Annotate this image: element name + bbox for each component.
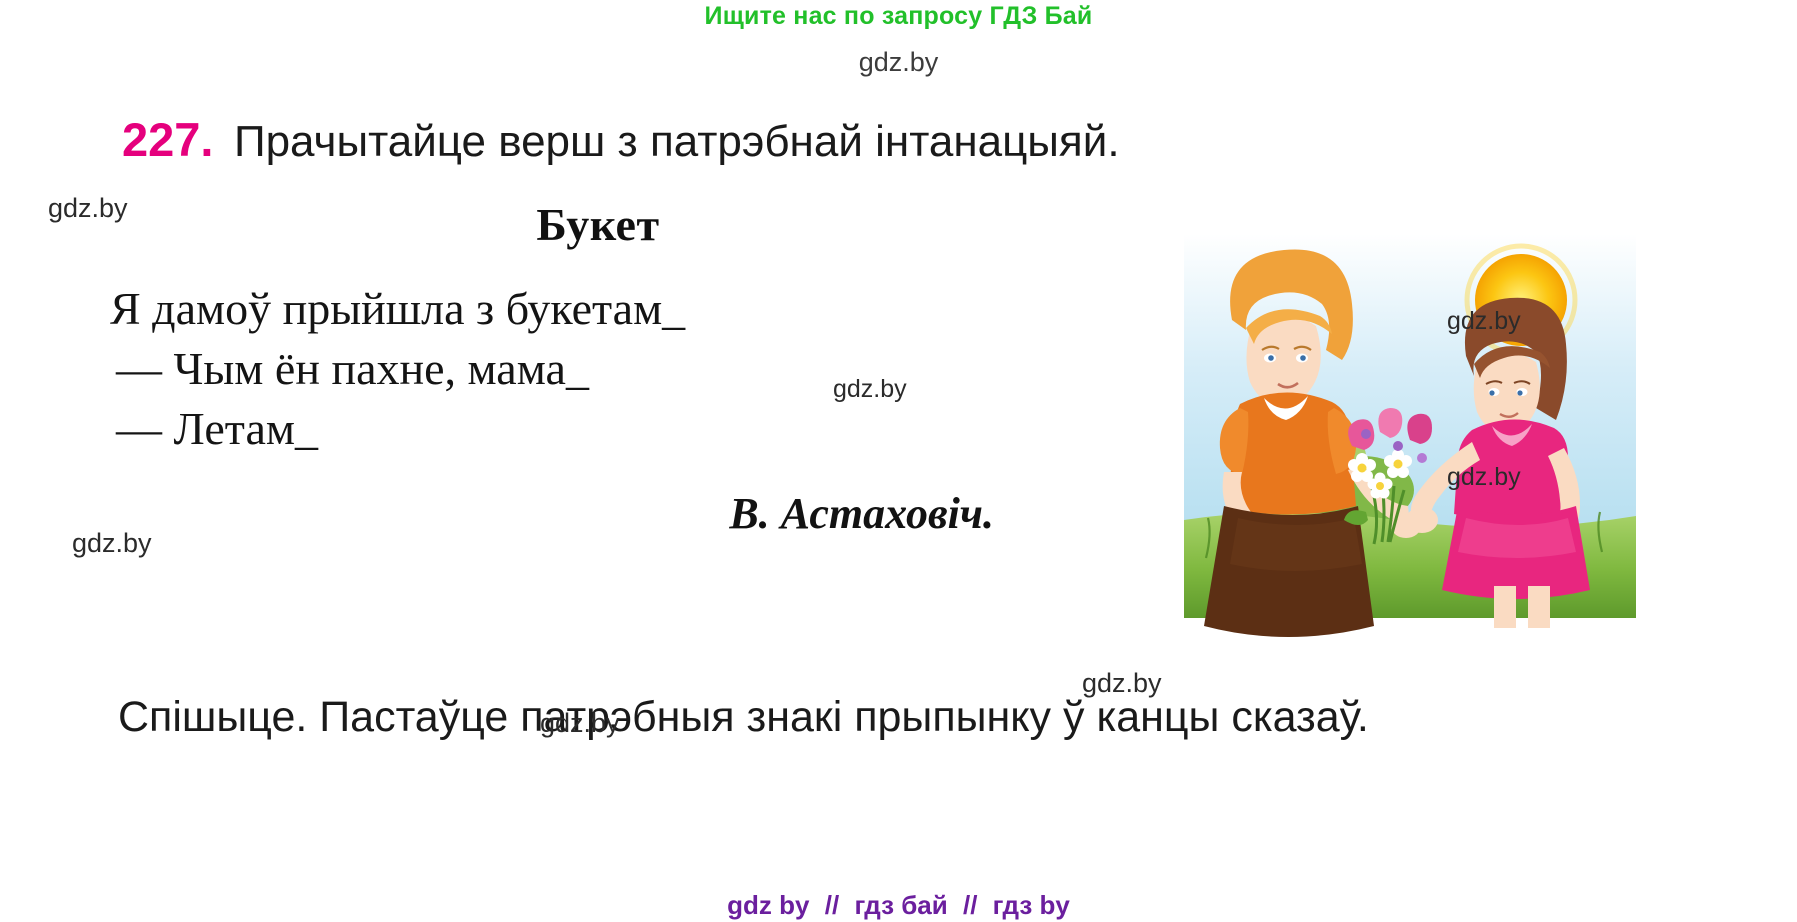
footer-part-2[interactable]: гдз бай (854, 890, 947, 920)
poem-line: Я дамоў прыйшла з букетам_ (110, 279, 1040, 339)
exercise-heading: 227. Прачытайце верш з патрэбнай інтанац… (122, 112, 1120, 167)
promo-header-text: Ищите нас по запросу ГДЗ Бай (0, 2, 1797, 31)
footer-links: gdz by // гдз бай // гдз by (0, 890, 1797, 921)
mother-and-daughter-with-bouquet-illustration (1166, 228, 1656, 658)
poem-block: Букет Я дамоў прыйшла з букетам_ — Чым ё… (110, 198, 1040, 539)
footer-part-1[interactable]: gdz by (727, 890, 809, 920)
promo-site-label: gdz.by (0, 47, 1797, 78)
poem-author: В. Астаховіч. (110, 488, 1040, 539)
exercise-number: 227. (122, 113, 213, 166)
task-instruction: Спішыце. Пастаўце патрэбныя знакі прыпын… (22, 690, 1472, 745)
poem-line: — Летам_ (110, 399, 1040, 459)
footer-separator: // (817, 890, 847, 920)
page-canvas: Ищите нас по запросу ГДЗ Бай gdz.by 227.… (0, 0, 1797, 922)
poem-lines: Я дамоў прыйшла з букетам_ — Чым ён пахн… (110, 279, 1040, 458)
footer-separator: // (955, 890, 985, 920)
poem-line: — Чым ён пахне, мама_ (110, 339, 1040, 399)
footer-part-3[interactable]: гдз by (993, 890, 1070, 920)
poem-title: Букет (110, 198, 1040, 251)
task-instruction-text: Спішыце. Пастаўце патрэбныя знакі прыпын… (118, 693, 1369, 741)
exercise-instruction: Прачытайце верш з патрэбнай інтанацыяй. (234, 117, 1120, 166)
